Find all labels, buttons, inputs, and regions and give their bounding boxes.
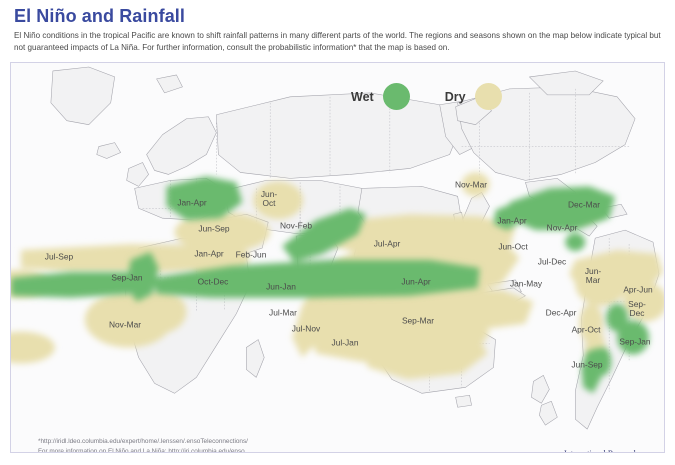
map-label-nov-feb-6: Nov-Feb <box>280 221 312 230</box>
map-label-line: Jul-Jan <box>332 338 359 347</box>
map-label-line: Jul-Apr <box>374 239 401 248</box>
map-label-feb-jun-4: Feb-Jun <box>236 250 267 259</box>
map-label-line: Mar <box>585 276 601 285</box>
map-label-jun-oct-21: Jun-Oct <box>498 242 527 251</box>
legend-dry-label: Dry <box>445 90 466 104</box>
legend-dry-swatch <box>475 83 502 110</box>
map-label-line: Dec <box>628 309 646 318</box>
map-label-nov-mar-17: Nov-Mar <box>455 180 487 189</box>
map-label-line: Jul-Sep <box>45 252 73 261</box>
map-label-line: Jan-Apr <box>497 216 526 225</box>
map-label-sep-jan-29: Sep-Jan <box>619 337 650 346</box>
map-label-line: Apr-Oct <box>572 325 601 334</box>
map-label-jul-jan-13: Jul-Jan <box>332 338 359 347</box>
map-label-line: Oct-Dec <box>198 277 229 286</box>
map-label-line: Nov-Mar <box>455 180 487 189</box>
map-label-jul-mar-11: Jul-Mar <box>269 308 297 317</box>
map-label-jun-sep-1: Jun-Sep <box>198 224 229 233</box>
map-label-line: Nov-Mar <box>109 320 141 329</box>
map-label-line: Jul-Nov <box>292 324 320 333</box>
page-title: El Niño and Rainfall <box>14 6 185 27</box>
legend-wet-label: Wet <box>351 90 374 104</box>
legend-wet-swatch <box>383 83 410 110</box>
map-label-jul-dec-22: Jul-Dec <box>538 257 566 266</box>
footnote-url[interactable]: *http://iridl.ldeo.columbia.edu/expert/h… <box>38 437 248 447</box>
map-label-oct-dec-3: Oct-Dec <box>198 277 229 286</box>
map-label-line: Sep-Jan <box>619 337 650 346</box>
map-label-dec-mar-20: Dec-Mar <box>568 200 600 209</box>
map-label-nov-apr-19: Nov-Apr <box>547 223 578 232</box>
world-map[interactable]: Wet Dry Jan-AprJun-SepJan-AprOct-DecFeb-… <box>10 62 665 453</box>
footnote-more-info[interactable]: For more information on El Niño and La N… <box>38 447 248 453</box>
map-label-nov-mar-9: Nov-Mar <box>109 320 141 329</box>
intro-paragraph: El Niño conditions in the tropical Pacif… <box>14 30 662 55</box>
map-label-dec-apr-27: Dec-Apr <box>546 308 577 317</box>
map-label-jul-nov-12: Jul-Nov <box>292 324 320 333</box>
map-label-jan-apr-2: Jan-Apr <box>194 249 223 258</box>
map-label-sep-jan-8: Sep-Jan <box>111 273 142 282</box>
map-legend: Wet Dry <box>351 83 502 110</box>
map-label-jun--mar-24: Jun-Mar <box>585 267 601 285</box>
map-label-sep-mar-16: Sep-Mar <box>402 316 434 325</box>
map-label-jan-apr-0: Jan-Apr <box>177 198 206 207</box>
map-label-jan-apr-18: Jan-Apr <box>497 216 526 225</box>
map-label-line: Jul-Dec <box>538 257 566 266</box>
map-label-jun-jan-10: Jun-Jan <box>266 282 296 291</box>
map-label-line: Jun-Jan <box>266 282 296 291</box>
map-label-line: Apr-Jun <box>623 285 652 294</box>
map-label-line: Sep-Jan <box>111 273 142 282</box>
map-label-line: Jul-Mar <box>269 308 297 317</box>
iri-logo-text: International Research Institute for Cli… <box>564 449 664 453</box>
map-label-jun-apr-15: Jun-Apr <box>401 277 430 286</box>
map-label-line: Jun-Sep <box>198 224 229 233</box>
map-label-apr-jun-25: Apr-Jun <box>623 285 652 294</box>
iri-logo[interactable]: IRI International Research Institute for… <box>532 449 664 453</box>
map-label-line: Nov-Apr <box>547 223 578 232</box>
map-label-line: Oct <box>261 199 277 208</box>
iri-monogram-icon: IRI <box>532 452 558 453</box>
map-label-jun-sep-30: Jun-Sep <box>571 360 602 369</box>
map-label-jun--oct-5: Jun-Oct <box>261 190 277 208</box>
map-label-line: Jun-Sep <box>571 360 602 369</box>
map-label-line: Dec-Mar <box>568 200 600 209</box>
map-label-line: Jun-Oct <box>498 242 527 251</box>
map-label-line: Jan-May <box>510 279 542 288</box>
map-label-line: Jan-Apr <box>177 198 206 207</box>
map-label-line: Feb-Jun <box>236 250 267 259</box>
map-label-line: Sep-Mar <box>402 316 434 325</box>
map-label-line: Nov-Feb <box>280 221 312 230</box>
map-label-line: Dec-Apr <box>546 308 577 317</box>
footnotes: *http://iridl.ldeo.columbia.edu/expert/h… <box>38 437 248 453</box>
map-label-sep--dec-26: Sep-Dec <box>628 300 646 318</box>
iri-line-1: International Research Institute <box>564 449 664 453</box>
map-label-jul-sep-7: Jul-Sep <box>45 252 73 261</box>
map-label-jul-apr-14: Jul-Apr <box>374 239 401 248</box>
map-label-jan-may-23: Jan-May <box>510 279 542 288</box>
map-label-line: Jan-Apr <box>194 249 223 258</box>
map-label-apr-oct-28: Apr-Oct <box>572 325 601 334</box>
map-label-line: Jun-Apr <box>401 277 430 286</box>
